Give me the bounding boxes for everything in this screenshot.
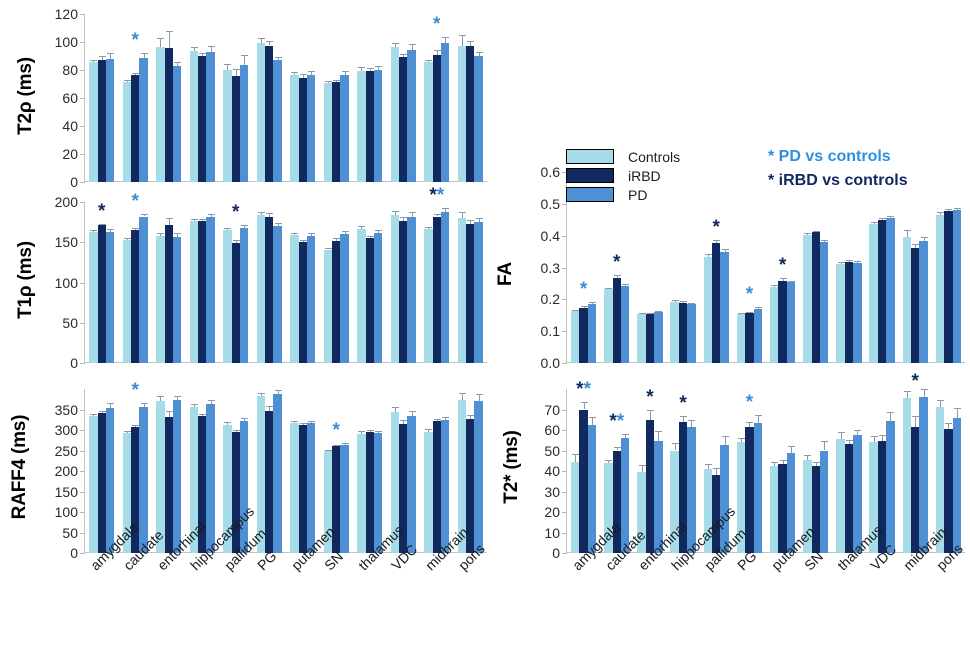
- error-bar-cap: [132, 73, 139, 74]
- yaxis-title-fa: FA: [495, 262, 517, 286]
- star-glyph-irbd: *: [98, 201, 105, 222]
- bar-group: [424, 14, 449, 182]
- error-bar-cap: [780, 460, 787, 461]
- error-bar-cap: [755, 307, 762, 308]
- error-bar-cap: [680, 301, 687, 302]
- error-bar-cap: [308, 71, 315, 72]
- error-bar-cap: [639, 313, 646, 314]
- error-bar-cap: [191, 219, 198, 220]
- ytick-label: 80: [62, 62, 78, 78]
- star-glyph-pd: *: [333, 420, 340, 441]
- bar-pd: [240, 228, 248, 363]
- bar-pd: [173, 400, 181, 553]
- bar-controls: [89, 416, 97, 553]
- bar-pd: [407, 416, 415, 553]
- error-bar-cap: [572, 454, 579, 455]
- ytick-label: 0: [70, 545, 78, 561]
- bar-group: [156, 14, 181, 182]
- error-bar-cap: [400, 217, 407, 218]
- bar-controls: [190, 221, 198, 363]
- error-bar-cap: [846, 440, 853, 441]
- bar-pd: [820, 242, 828, 363]
- error-bar: [915, 416, 916, 427]
- error-bar: [658, 431, 659, 441]
- bar-controls: [936, 215, 944, 363]
- bar-irbd: [98, 225, 106, 363]
- ytick-mark: [80, 471, 85, 472]
- error-bar-cap: [589, 302, 596, 303]
- error-bar-cap: [275, 390, 282, 391]
- ytick-label: 0: [552, 545, 560, 561]
- bar-group: [424, 202, 449, 363]
- error-bar-cap: [467, 41, 474, 42]
- error-bar-cap: [174, 233, 181, 234]
- error-bar-cap: [605, 288, 612, 289]
- error-bar-cap: [132, 228, 139, 229]
- error-bar-cap: [157, 38, 164, 39]
- error-bar-cap: [208, 46, 215, 47]
- error-bar-cap: [746, 312, 753, 313]
- bar-irbd: [332, 241, 340, 363]
- bar-pd: [953, 210, 961, 363]
- error-bar-cap: [166, 31, 173, 32]
- error-bar-cap: [821, 240, 828, 241]
- error-bar-cap: [266, 213, 273, 214]
- bar-controls: [357, 434, 365, 553]
- bar-irbd: [433, 217, 441, 364]
- bar-irbd: [265, 411, 273, 553]
- bar-group: [290, 389, 315, 553]
- error-bar-cap: [904, 391, 911, 392]
- bar-irbd: [131, 75, 139, 182]
- ytick-label: 100: [55, 504, 78, 520]
- significance-star: **: [429, 186, 444, 205]
- error-bar-cap: [887, 216, 894, 217]
- ytick-label: 0: [70, 174, 78, 190]
- star-glyph-irbd: *: [679, 393, 686, 414]
- ytick-label: 0.5: [541, 196, 560, 212]
- error-bar-cap: [705, 464, 712, 465]
- bar-pd: [139, 407, 147, 553]
- bar-group: [290, 202, 315, 363]
- error-bar-cap: [124, 431, 131, 432]
- bar-pd: [407, 50, 415, 182]
- error-bar: [907, 391, 908, 398]
- error-bar-cap: [887, 412, 894, 413]
- error-bar-cap: [672, 300, 679, 301]
- bar-pd: [307, 423, 315, 553]
- error-bar-cap: [722, 436, 729, 437]
- bar-irbd: [466, 224, 474, 363]
- error-bar-cap: [199, 53, 206, 54]
- bar-irbd: [232, 76, 240, 182]
- bar-irbd: [911, 427, 919, 553]
- error-bar: [169, 218, 170, 225]
- ytick-label: 50: [62, 315, 78, 331]
- bar-group: [156, 202, 181, 363]
- error-bar-cap: [722, 249, 729, 250]
- error-bar-cap: [174, 62, 181, 63]
- ytick-mark: [80, 492, 85, 493]
- error-bar-cap: [124, 238, 131, 239]
- star-glyph-pd: *: [132, 191, 139, 212]
- bar-controls: [223, 70, 231, 182]
- error-bar-cap: [854, 261, 861, 262]
- error-bar-cap: [99, 224, 106, 225]
- bar-irbd: [232, 243, 240, 363]
- ytick-mark: [80, 202, 85, 203]
- error-bar-cap: [755, 415, 762, 416]
- ytick-label: 20: [544, 504, 560, 520]
- bar-group: [357, 14, 382, 182]
- error-bar-cap: [275, 57, 282, 58]
- significance-star: *: [912, 372, 919, 391]
- significance-note: * PD vs controls: [768, 148, 891, 166]
- error-bar-cap: [705, 254, 712, 255]
- significance-star: *: [779, 256, 786, 275]
- bar-irbd: [433, 421, 441, 553]
- error-bar-cap: [771, 462, 778, 463]
- bar-pd: [106, 408, 114, 553]
- bar-controls: [604, 289, 612, 363]
- bar-controls: [290, 235, 298, 363]
- error-bar-cap: [813, 462, 820, 463]
- ytick-label: 50: [544, 443, 560, 459]
- error-bar-cap: [291, 421, 298, 422]
- bar-pd: [654, 312, 662, 363]
- error-bar: [244, 55, 245, 65]
- ytick-label: 0: [70, 355, 78, 371]
- bar-controls: [670, 302, 678, 363]
- bar-controls: [123, 240, 131, 363]
- bar-controls: [836, 264, 844, 363]
- bar-irbd: [198, 221, 206, 363]
- bar-irbd: [131, 230, 139, 363]
- ytick-label: 40: [544, 463, 560, 479]
- significance-star: *: [98, 202, 105, 221]
- error-bar-cap: [425, 227, 432, 228]
- bar-group: [571, 389, 596, 553]
- bar-controls: [324, 250, 332, 364]
- error-bar-cap: [358, 67, 365, 68]
- bar-pd: [307, 236, 315, 363]
- error-bar-cap: [141, 403, 148, 404]
- error-bar-cap: [375, 230, 382, 231]
- error-bar-cap: [258, 38, 265, 39]
- yaxis-title-raff4: RAFF4 (ms): [9, 415, 31, 520]
- error-bar-cap: [375, 66, 382, 67]
- error-bar-cap: [467, 220, 474, 221]
- bar-pd: [206, 217, 214, 363]
- bar-group: [123, 202, 148, 363]
- error-bar-cap: [300, 423, 307, 424]
- bar-group: [903, 389, 928, 553]
- ytick-mark: [562, 512, 567, 513]
- bar-irbd: [165, 48, 173, 182]
- bar-irbd: [712, 243, 720, 363]
- bar-pd: [173, 237, 181, 363]
- bar-pd: [374, 70, 382, 182]
- bar-pd: [621, 286, 629, 363]
- star-glyph-irbd: *: [912, 371, 919, 392]
- error-bar: [691, 420, 692, 427]
- ytick-mark: [80, 242, 85, 243]
- figure-root: T2ρ (ms)**020406080100120 T1ρ (ms)*****0…: [0, 0, 970, 646]
- legend-label: Controls: [628, 149, 680, 165]
- error-bar-cap: [208, 214, 215, 215]
- error-bar-cap: [141, 53, 148, 54]
- error-bar-cap: [325, 81, 332, 82]
- xaxis-labels-left: amygdalacaudateentorhinalhippocampuspall…: [0, 560, 492, 646]
- error-bar-cap: [409, 411, 416, 412]
- error-bar-cap: [476, 394, 483, 395]
- ytick-mark: [562, 430, 567, 431]
- error-bar-cap: [647, 313, 654, 314]
- error-bar-cap: [771, 285, 778, 286]
- bar-pd: [206, 52, 214, 182]
- error-bar-cap: [442, 37, 449, 38]
- error-bar-cap: [375, 431, 382, 432]
- bar-irbd: [845, 262, 853, 363]
- ytick-mark: [80, 70, 85, 71]
- ytick-mark: [562, 533, 567, 534]
- error-bar-cap: [90, 60, 97, 61]
- error-bar-cap: [713, 240, 720, 241]
- note-star-glyph: *: [768, 148, 779, 165]
- ytick-label: 100: [55, 275, 78, 291]
- bar-pd: [787, 282, 795, 363]
- ytick-mark: [80, 533, 85, 534]
- error-bar-cap: [367, 430, 374, 431]
- error-bar-cap: [325, 450, 332, 451]
- ytick-label: 120: [55, 6, 78, 22]
- error-bar-cap: [459, 212, 466, 213]
- bar-group: [257, 14, 282, 182]
- error-bar-cap: [107, 53, 114, 54]
- bar-group: [324, 14, 349, 182]
- ytick-mark: [80, 430, 85, 431]
- significance-star: *: [746, 285, 753, 304]
- error-bar-cap: [291, 233, 298, 234]
- error-bar-cap: [647, 410, 654, 411]
- error-bar-cap: [680, 416, 687, 417]
- bar-irbd: [299, 78, 307, 182]
- error-bar-cap: [199, 414, 206, 415]
- error-bar-cap: [434, 419, 441, 420]
- star-glyph-pd: *: [132, 30, 139, 51]
- bar-controls: [737, 314, 745, 363]
- bar-group: [458, 14, 483, 182]
- ytick-mark: [562, 553, 567, 554]
- bar-group: [156, 389, 181, 553]
- error-bar-cap: [157, 233, 164, 234]
- bar-pd: [273, 60, 281, 182]
- significance-note: * iRBD vs controls: [768, 172, 908, 190]
- error-bar-cap: [258, 393, 265, 394]
- error-bar-cap: [275, 223, 282, 224]
- bar-pd: [687, 304, 695, 363]
- significance-star: *: [746, 393, 753, 412]
- error-bar-cap: [476, 52, 483, 53]
- significance-star: *: [713, 218, 720, 237]
- bar-controls: [803, 235, 811, 363]
- error-bar-cap: [233, 240, 240, 241]
- error-bar: [716, 468, 717, 475]
- bar-pd: [886, 421, 894, 553]
- note-star-glyph: *: [768, 172, 779, 189]
- bar-group: [89, 389, 114, 553]
- ytick-label: 60: [544, 422, 560, 438]
- error-bar-cap: [157, 396, 164, 397]
- ytick-mark: [80, 154, 85, 155]
- bar-pd: [953, 418, 961, 553]
- bar-irbd: [165, 225, 173, 363]
- error-bar-cap: [921, 237, 928, 238]
- ytick-label: 350: [55, 402, 78, 418]
- error-bar-cap: [233, 430, 240, 431]
- star-glyph-irbd: *: [232, 202, 239, 223]
- error-bar-cap: [605, 460, 612, 461]
- bar-pd: [139, 217, 147, 364]
- error-bar-cap: [199, 219, 206, 220]
- star-glyph-pd: *: [746, 392, 753, 413]
- error-bar: [890, 412, 891, 421]
- bar-irbd: [646, 420, 654, 553]
- error-bar-cap: [688, 303, 695, 304]
- bar-controls: [89, 232, 97, 363]
- bar-pd: [474, 401, 482, 553]
- bar-irbd: [98, 413, 106, 553]
- bar-pd: [441, 212, 449, 363]
- ytick-mark: [80, 451, 85, 452]
- xaxis-labels-right: amygdalacaudateentorhinalhippocampuspall…: [496, 560, 970, 646]
- error-bar-cap: [241, 418, 248, 419]
- error-bar: [462, 35, 463, 46]
- bar-pd: [588, 304, 596, 363]
- error-bar-cap: [342, 443, 349, 444]
- ytick-mark: [80, 512, 85, 513]
- error-bar-cap: [655, 431, 662, 432]
- error-bar-cap: [166, 411, 173, 412]
- error-bar-cap: [912, 416, 919, 417]
- error-bar-cap: [581, 306, 588, 307]
- error-bar-cap: [780, 278, 787, 279]
- bar-controls: [903, 237, 911, 363]
- bar-group: [89, 14, 114, 182]
- significance-star: *: [132, 381, 139, 400]
- ytick-label: 40: [62, 118, 78, 134]
- error-bar-cap: [813, 231, 820, 232]
- bar-controls: [637, 314, 645, 363]
- error-bar-cap: [639, 465, 646, 466]
- error-bar-cap: [912, 244, 919, 245]
- ytick-mark: [562, 268, 567, 269]
- significance-star: *: [679, 394, 686, 413]
- error-bar-cap: [821, 441, 828, 442]
- bar-controls: [391, 47, 399, 182]
- legend-item: Controls: [566, 148, 680, 165]
- bar-group: [936, 172, 961, 363]
- error-bar-cap: [241, 225, 248, 226]
- bar-group: [89, 202, 114, 363]
- error-bar-cap: [132, 425, 139, 426]
- error-bar: [940, 400, 941, 407]
- bar-irbd: [911, 248, 919, 363]
- error-bar: [650, 410, 651, 420]
- bar-irbd: [366, 71, 374, 182]
- ytick-label: 60: [62, 90, 78, 106]
- error-bar-cap: [854, 430, 861, 431]
- bar-irbd: [878, 220, 886, 363]
- ytick-label: 70: [544, 402, 560, 418]
- star-glyph-pd: *: [132, 380, 139, 401]
- bar-controls: [123, 82, 131, 182]
- star-glyph-pd: *: [746, 284, 753, 305]
- bar-irbd: [745, 313, 753, 363]
- bar-pd: [720, 252, 728, 363]
- bar-controls: [704, 257, 712, 363]
- bar-irbd: [944, 211, 952, 363]
- error-bar-cap: [266, 41, 273, 42]
- error-bar-cap: [614, 275, 621, 276]
- yaxis-title-t2star: T2* (ms): [501, 430, 523, 503]
- error-bar: [642, 465, 643, 472]
- bar-group: [424, 389, 449, 553]
- bar-group: [869, 172, 894, 363]
- error-bar-cap: [788, 446, 795, 447]
- error-bar: [160, 38, 161, 47]
- error-bar-cap: [174, 396, 181, 397]
- bar-controls: [290, 75, 298, 182]
- error-bar-cap: [224, 228, 231, 229]
- star-glyph-pd: *: [617, 411, 624, 432]
- bar-controls: [903, 398, 911, 553]
- error-bar-cap: [358, 431, 365, 432]
- error-bar-cap: [622, 284, 629, 285]
- bar-pd: [820, 451, 828, 554]
- bar-irbd: [466, 46, 474, 182]
- ytick-mark: [80, 363, 85, 364]
- plot-area-t1rho: *****: [84, 202, 486, 363]
- ytick-mark: [80, 182, 85, 183]
- chart-panel-t1rho: T1ρ (ms)*****050100150200: [0, 192, 492, 367]
- error-bar-cap: [434, 214, 441, 215]
- error-bar-cap: [325, 248, 332, 249]
- bar-controls: [257, 215, 265, 363]
- ytick-label: 0.3: [541, 260, 560, 276]
- bar-controls: [257, 43, 265, 182]
- error-bar: [957, 408, 958, 417]
- ytick-mark: [80, 14, 85, 15]
- bar-pd: [106, 59, 114, 182]
- bar-pd: [173, 66, 181, 182]
- error-bar-cap: [804, 455, 811, 456]
- ytick-label: 10: [544, 525, 560, 541]
- bar-pd: [474, 56, 482, 182]
- bar-irbd: [265, 46, 273, 183]
- ytick-label: 300: [55, 422, 78, 438]
- bar-group: [223, 202, 248, 363]
- bar-group: [458, 202, 483, 363]
- bar-controls: [424, 229, 432, 363]
- error-bar-cap: [655, 311, 662, 312]
- bar-pd: [754, 423, 762, 553]
- legend-label: PD: [628, 187, 647, 203]
- error-bar-cap: [409, 212, 416, 213]
- error-bar-cap: [871, 222, 878, 223]
- yaxis-title-t2rho: T2ρ (ms): [15, 57, 37, 135]
- error-bar: [675, 443, 676, 450]
